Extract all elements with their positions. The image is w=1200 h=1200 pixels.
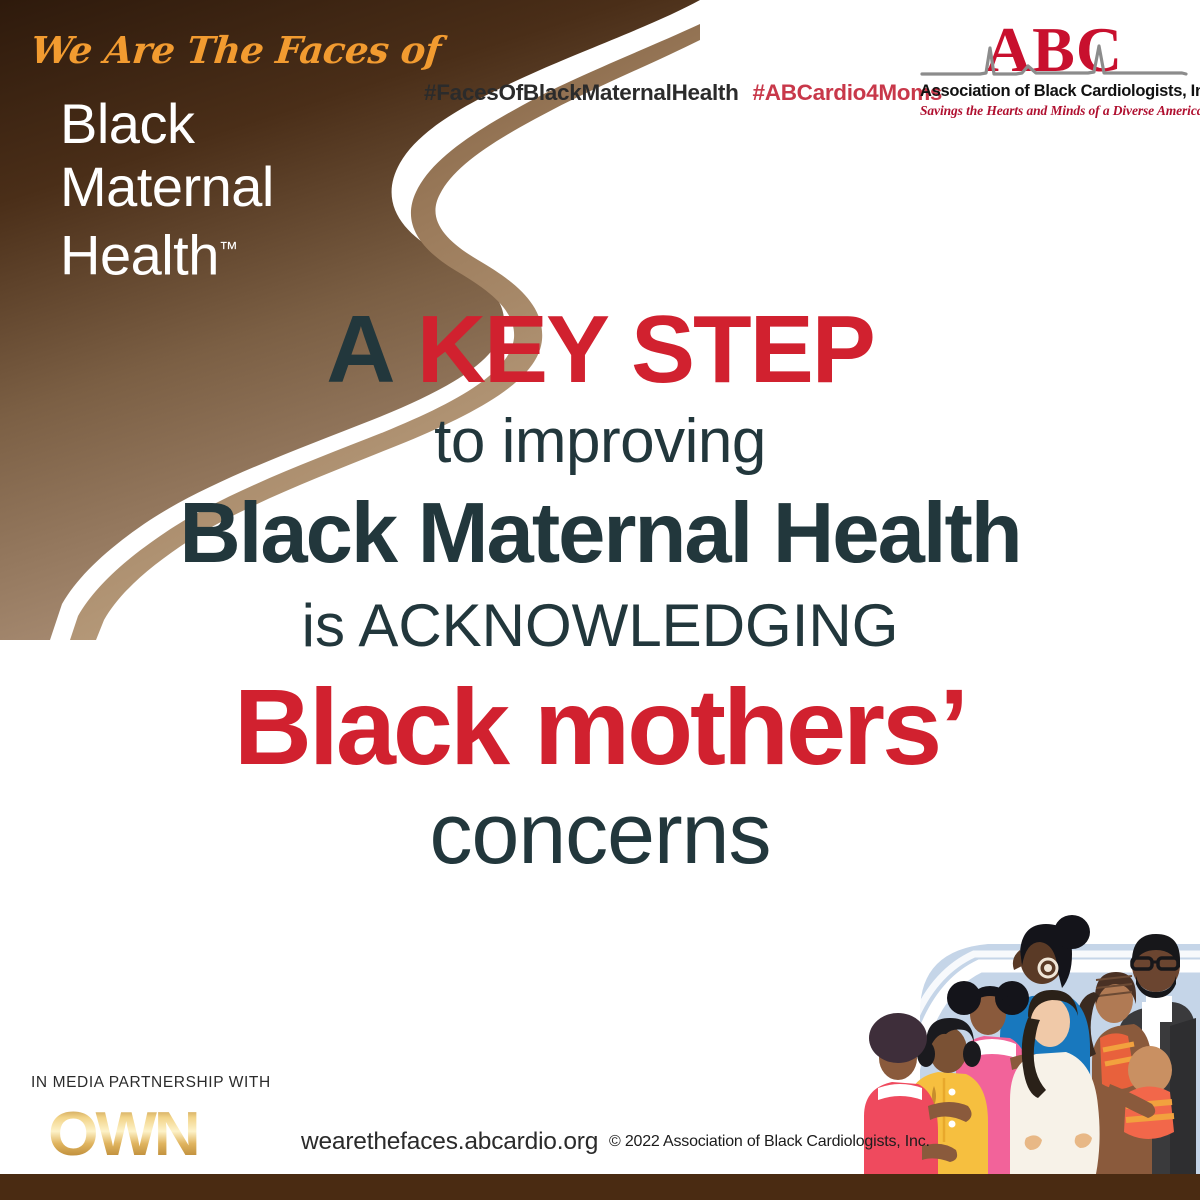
- hashtag-primary[interactable]: #FacesOfBlackMaternalHealth: [424, 80, 739, 105]
- headline-line-2: to improving: [0, 400, 1200, 484]
- hashtag-row: #FacesOfBlackMaternalHealth#ABCardio4Mom…: [424, 80, 942, 106]
- headline-line-5: Black mothers’: [0, 668, 1200, 786]
- brand-title-line-2: Maternal: [60, 155, 274, 218]
- headline-line-3: Black Maternal Health: [0, 484, 1200, 584]
- abc-tagline: Savings the Hearts and Minds of a Divers…: [920, 103, 1188, 119]
- abc-logo[interactable]: ABC Association of Black Cardiologists, …: [920, 22, 1188, 132]
- bottom-brown-bar: [0, 1174, 1200, 1200]
- family-illustration: [860, 892, 1200, 1174]
- brand-title-line-3-text: Health: [60, 224, 219, 287]
- headline-word-key-step: KEY STEP: [417, 296, 874, 403]
- headline-word-a: A: [326, 296, 416, 403]
- brand-script-line: We Are The Faces of: [29, 28, 443, 72]
- poster-canvas: We Are The Faces of Black Maternal Healt…: [0, 0, 1200, 1200]
- own-logo[interactable]: OWN: [48, 1104, 198, 1166]
- trademark-symbol: ™: [219, 239, 238, 260]
- headline-line-6: concerns: [0, 786, 1200, 882]
- website-url[interactable]: wearethefaces.abcardio.org: [301, 1128, 598, 1156]
- brand-title-line-1: Black: [60, 92, 274, 155]
- abc-logo-mark: ABC: [920, 22, 1188, 84]
- headline-line-4: is ACKNOWLEDGING: [0, 584, 1200, 668]
- media-partnership-label: IN MEDIA PARTNERSHIP WITH: [31, 1074, 271, 1092]
- brand-title-line-3: Health™: [60, 218, 274, 287]
- headline-block: A KEY STEP to improving Black Maternal H…: [0, 300, 1200, 882]
- hashtag-secondary[interactable]: #ABCardio4Moms: [753, 80, 943, 105]
- copyright-notice: © 2022 Association of Black Cardiologist…: [609, 1133, 930, 1151]
- brand-title: Black Maternal Health™: [60, 92, 274, 287]
- headline-line-1: A KEY STEP: [0, 300, 1200, 400]
- ekg-line-icon: [920, 40, 1188, 84]
